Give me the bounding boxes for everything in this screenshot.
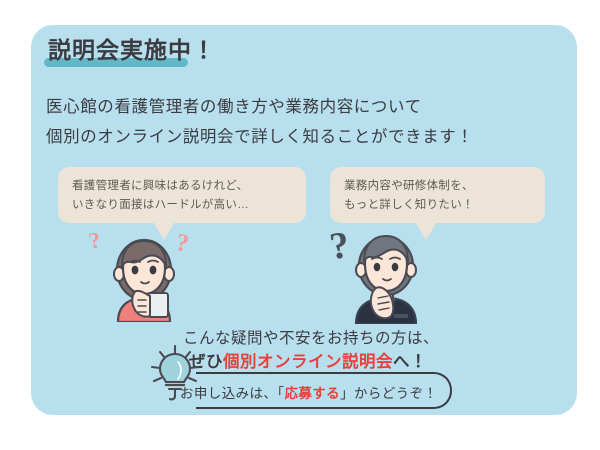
- illustration-woman-thinking: [98, 236, 190, 322]
- apply-button-label[interactable]: 応募する: [284, 386, 340, 401]
- cta-line-3-suffix: 」からどうぞ！: [340, 386, 437, 401]
- speech-bubble-right-line-1: 業務内容や研修体制を、: [344, 177, 531, 196]
- illustration-man-thinking: [338, 232, 434, 324]
- lead-paragraph: 医心館の看護管理者の働き方や業務内容について 個別のオンライン説明会で詳しく知る…: [46, 92, 474, 152]
- page-title: 説明会実施中！: [48, 31, 216, 65]
- lead-line-2: 個別のオンライン説明会で詳しく知ることができます！: [46, 122, 474, 152]
- speech-bubble-left-line-1: 看護管理者に興味はあるけれど、: [72, 177, 292, 196]
- speech-bubble-right-line-2: もっと詳しく知りたい！: [344, 196, 531, 215]
- lightbulb-icon: [147, 344, 203, 402]
- speech-bubble-left-line-2: いきなり面接はハードルが高い…: [72, 196, 292, 215]
- cta-line-3: お申し込みは、「応募する」からどうぞ！: [180, 382, 437, 402]
- speech-bubble-left: 看護管理者に興味はあるけれど、 いきなり面接はハードルが高い…: [58, 167, 306, 223]
- cta-line-2: ぜひ個別オンライン説明会へ！: [189, 348, 427, 372]
- cta-line-2-accent: 個別オンライン説明会: [223, 353, 393, 371]
- lead-line-1: 医心館の看護管理者の働き方や業務内容について: [46, 92, 474, 122]
- cta-line-1: こんな疑問や不安をお持ちの方は、: [183, 326, 439, 348]
- speech-bubble-right: 業務内容や研修体制を、 もっと詳しく知りたい！: [330, 167, 545, 223]
- cta-line-2-suffix: へ！: [393, 353, 427, 371]
- banner-canvas: 説明会実施中！ 医心館の看護管理者の働き方や業務内容について 個別のオンライン説…: [0, 0, 600, 450]
